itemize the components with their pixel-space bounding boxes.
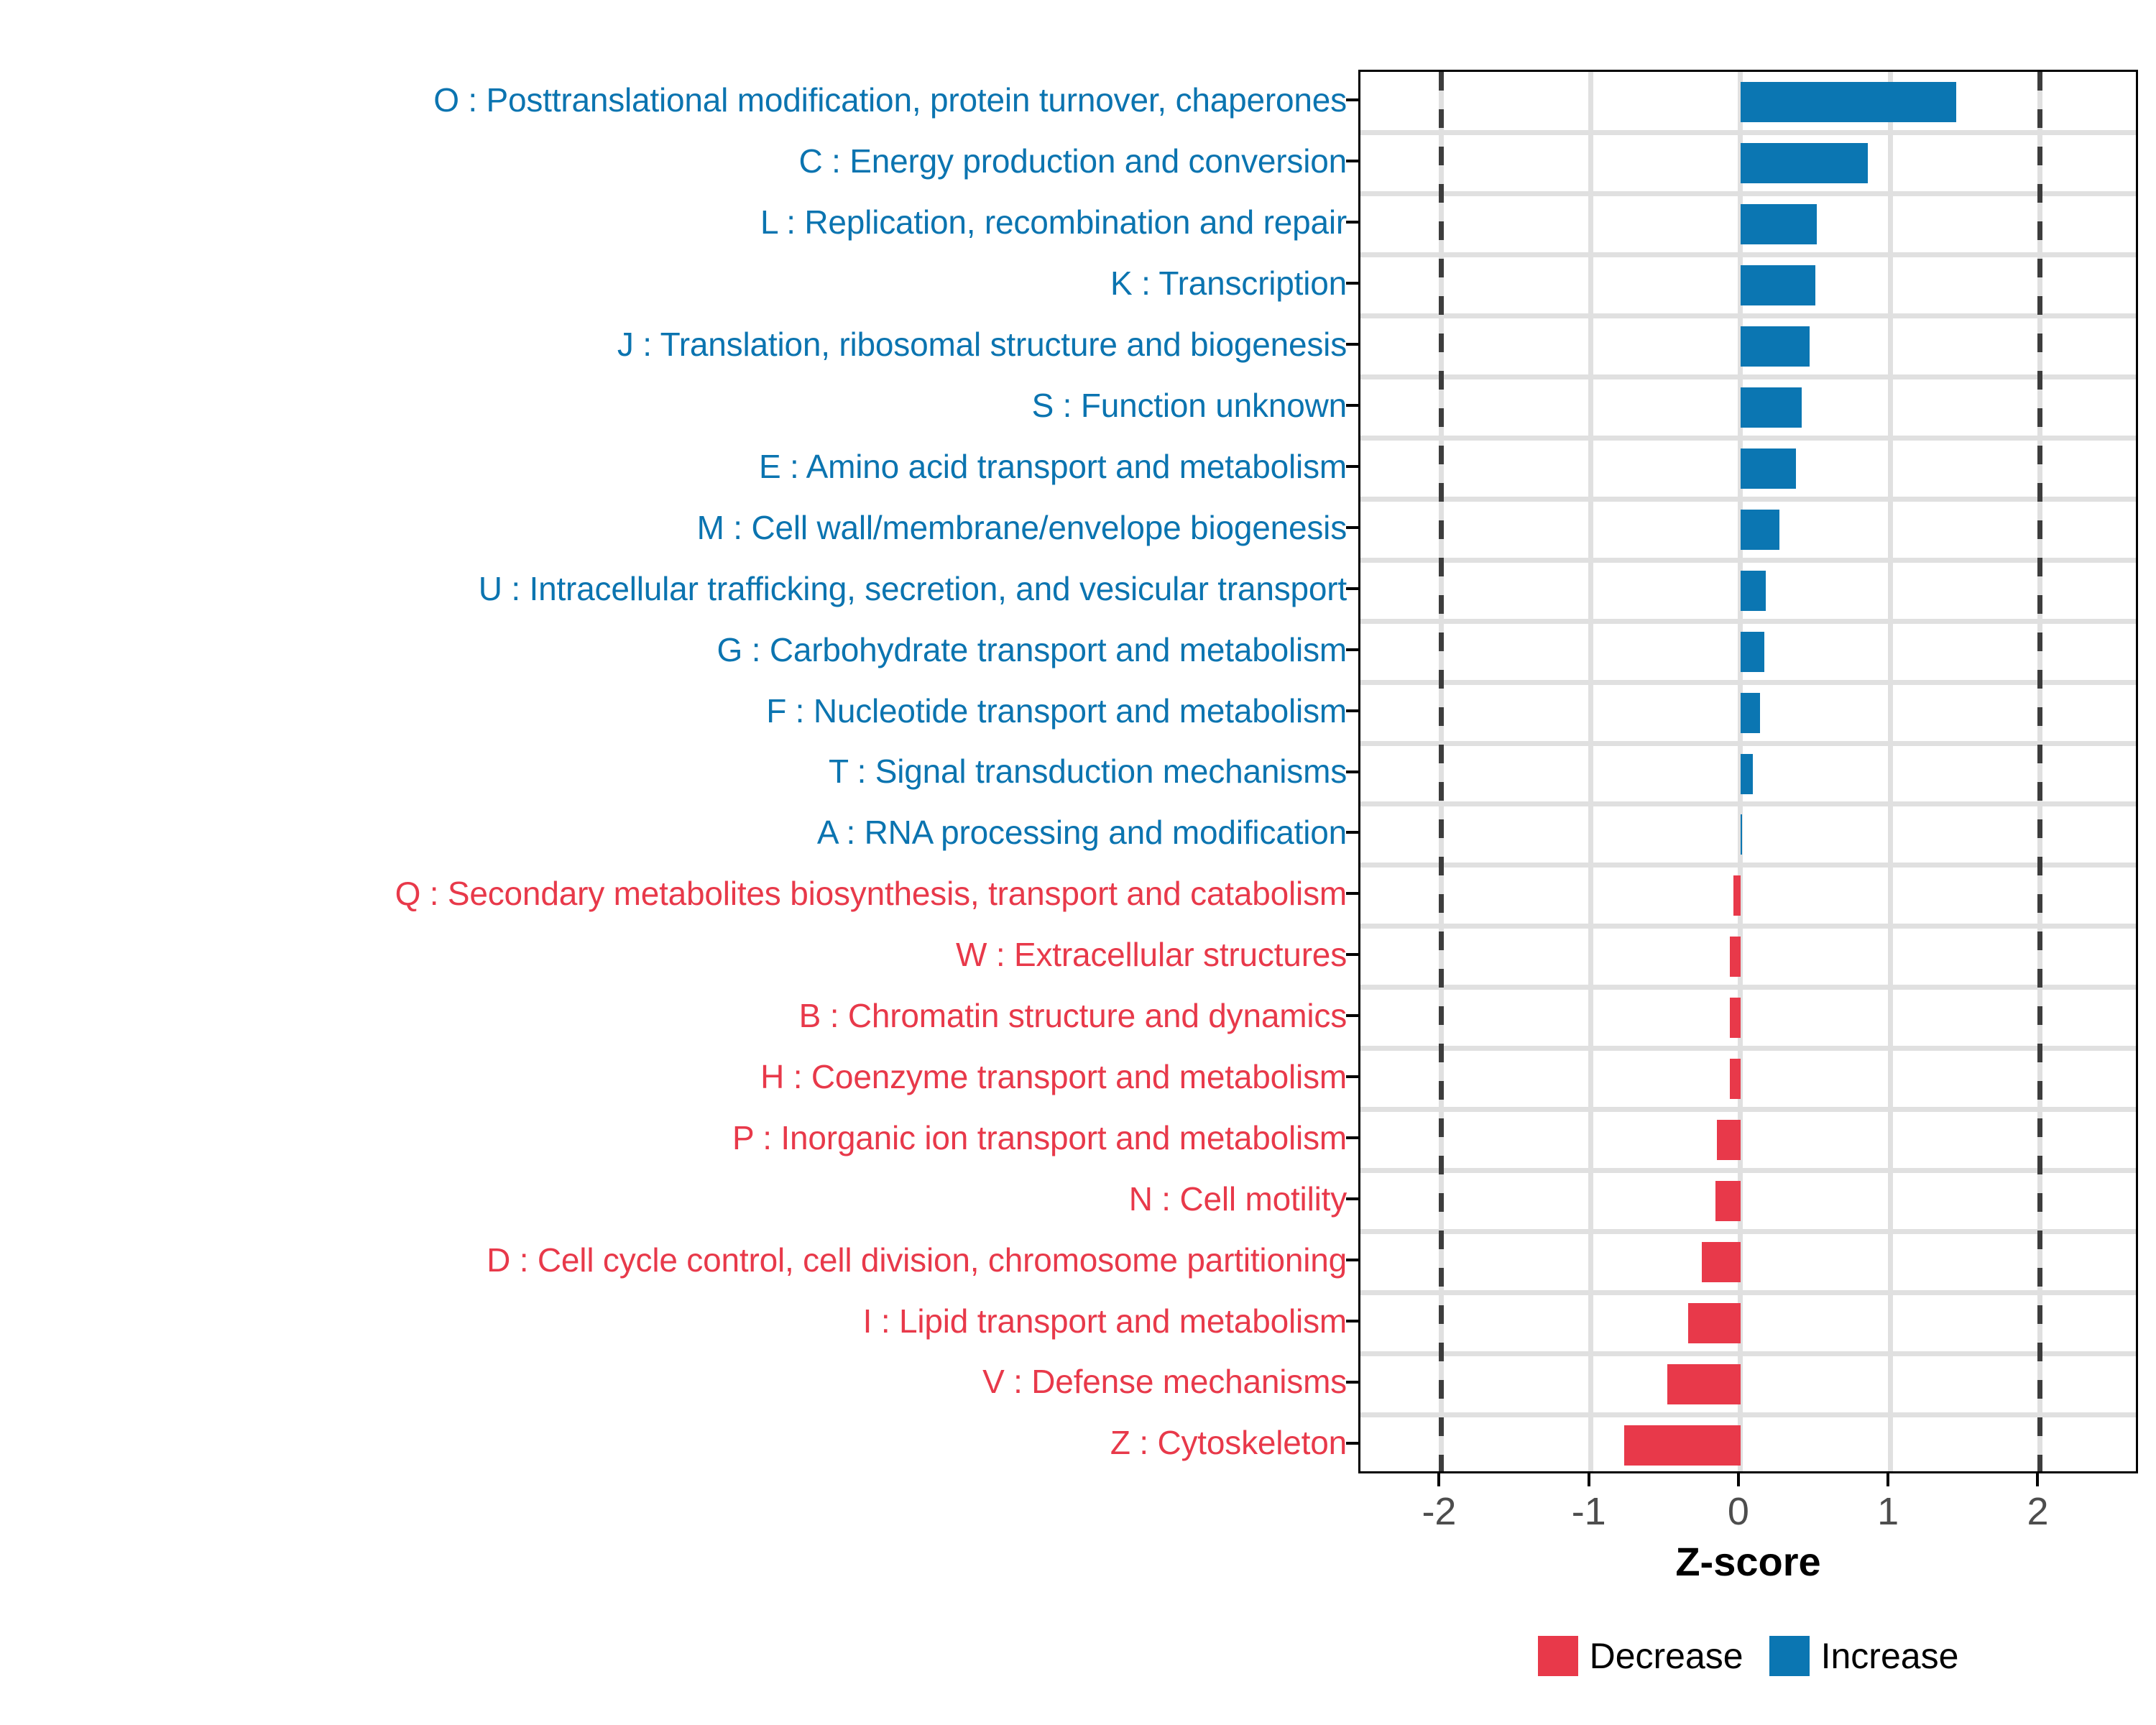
y-axis-tick — [1346, 160, 1358, 162]
y-axis-tick — [1346, 282, 1358, 285]
bar[interactable] — [1741, 693, 1760, 733]
bar[interactable] — [1741, 754, 1753, 794]
y-axis-tick — [1346, 831, 1358, 834]
y-axis-category-label: J : Translation, ribosomal structure and… — [617, 326, 1351, 363]
x-axis-tick-labels: -2-1012 — [1358, 1489, 2138, 1532]
x-axis-tick-label: 0 — [1728, 1489, 1749, 1534]
horizontal-gridline — [1360, 924, 2136, 929]
legend-swatch-icon — [1538, 1636, 1578, 1676]
y-axis-tick — [1346, 465, 1358, 468]
y-axis-tick — [1346, 98, 1358, 101]
bar[interactable] — [1741, 632, 1764, 672]
bar[interactable] — [1741, 510, 1779, 550]
y-axis-category-label: K : Transcription — [1110, 264, 1351, 302]
y-axis-category-label: F : Nucleotide transport and metabolism — [766, 692, 1351, 730]
bar[interactable] — [1741, 82, 1956, 122]
y-axis-category-label: I : Lipid transport and metabolism — [863, 1302, 1351, 1340]
y-axis-tick — [1346, 1320, 1358, 1322]
horizontal-gridline — [1360, 1046, 2136, 1051]
y-axis-tick — [1346, 404, 1358, 407]
x-axis-tick-label: -2 — [1422, 1489, 1456, 1534]
bar[interactable] — [1702, 1242, 1741, 1282]
bar[interactable] — [1741, 143, 1868, 183]
x-axis-tick-marks — [1358, 1473, 2138, 1486]
horizontal-gridline — [1360, 191, 2136, 196]
horizontal-gridline — [1360, 1168, 2136, 1173]
bar[interactable] — [1741, 265, 1815, 305]
y-axis-category-label: T : Signal transduction mechanisms — [829, 753, 1351, 790]
bar[interactable] — [1730, 937, 1741, 977]
horizontal-gridline — [1360, 374, 2136, 379]
horizontal-gridline — [1360, 1229, 2136, 1234]
bar[interactable] — [1733, 875, 1741, 916]
y-axis-category-label: W : Extracellular structures — [956, 936, 1351, 973]
bar[interactable] — [1741, 204, 1817, 244]
reference-line — [2037, 72, 2042, 1471]
y-axis-category-label: S : Function unknown — [1032, 387, 1351, 424]
y-axis-tick — [1346, 1381, 1358, 1384]
cog-zscore-bar-chart: O : Posttranslational modification, prot… — [0, 0, 2156, 1725]
horizontal-gridline — [1360, 801, 2136, 806]
x-axis-tick — [2036, 1473, 2039, 1486]
y-axis-category-label: P : Inorganic ion transport and metaboli… — [732, 1119, 1351, 1156]
y-axis-tick — [1346, 1075, 1358, 1078]
y-axis-category-label: M : Cell wall/membrane/envelope biogenes… — [697, 509, 1351, 546]
bar[interactable] — [1730, 998, 1741, 1038]
y-axis-category-label: B : Chromatin structure and dynamics — [799, 997, 1351, 1034]
bar[interactable] — [1688, 1303, 1741, 1343]
bar[interactable] — [1717, 1120, 1741, 1160]
y-axis-category-label: Z : Cytoskeleton — [1110, 1424, 1351, 1461]
y-axis-category-label: U : Intracellular trafficking, secretion… — [479, 570, 1351, 607]
y-axis-tick — [1346, 1136, 1358, 1139]
bar[interactable] — [1741, 448, 1796, 489]
y-axis-tick — [1346, 1014, 1358, 1017]
horizontal-gridline — [1360, 1351, 2136, 1356]
y-axis-tick — [1346, 709, 1358, 712]
bar[interactable] — [1667, 1364, 1741, 1404]
y-axis-tick-marks — [1346, 70, 1358, 1473]
y-axis-tick — [1346, 1197, 1358, 1200]
x-axis-tick-label: 2 — [2027, 1489, 2048, 1534]
horizontal-gridline — [1360, 1412, 2136, 1417]
y-axis-label-column: O : Posttranslational modification, prot… — [43, 70, 1351, 1473]
y-axis-category-label: G : Carbohydrate transport and metabolis… — [717, 631, 1351, 668]
y-axis-tick — [1346, 770, 1358, 773]
legend-item[interactable]: Increase — [1769, 1635, 1959, 1677]
horizontal-gridline — [1360, 130, 2136, 135]
legend-item[interactable]: Decrease — [1538, 1635, 1743, 1677]
y-axis-tick — [1346, 1259, 1358, 1261]
bar[interactable] — [1741, 326, 1810, 367]
bar[interactable] — [1624, 1425, 1741, 1466]
y-axis-category-label: E : Amino acid transport and metabolism — [759, 448, 1351, 485]
y-axis-tick — [1346, 587, 1358, 590]
bar[interactable] — [1715, 1181, 1741, 1221]
horizontal-gridline — [1360, 741, 2136, 746]
y-axis-tick — [1346, 526, 1358, 529]
plot-panel — [1358, 70, 2138, 1473]
y-axis-category-label: N : Cell motility — [1129, 1180, 1351, 1218]
horizontal-gridline — [1360, 252, 2136, 257]
horizontal-gridline — [1360, 313, 2136, 318]
bar[interactable] — [1741, 814, 1742, 855]
x-axis-tick — [1588, 1473, 1590, 1486]
legend-label: Increase — [1821, 1635, 1959, 1677]
horizontal-gridline — [1360, 497, 2136, 502]
legend-swatch-icon — [1769, 1636, 1810, 1676]
bar[interactable] — [1741, 387, 1802, 428]
legend-label: Decrease — [1590, 1635, 1743, 1677]
y-axis-tick — [1346, 648, 1358, 651]
horizontal-gridline — [1360, 985, 2136, 990]
horizontal-gridline — [1360, 436, 2136, 441]
horizontal-gridline — [1360, 680, 2136, 685]
y-axis-tick — [1346, 1442, 1358, 1445]
y-axis-category-label: A : RNA processing and modification — [817, 814, 1351, 851]
vertical-gridline — [1588, 72, 1593, 1471]
bar[interactable] — [1730, 1059, 1741, 1099]
x-axis-title: Z-score — [1358, 1538, 2138, 1585]
bar[interactable] — [1741, 571, 1766, 611]
horizontal-gridline — [1360, 862, 2136, 868]
horizontal-gridline — [1360, 558, 2136, 563]
horizontal-gridline — [1360, 1107, 2136, 1112]
horizontal-gridline — [1360, 1290, 2136, 1295]
y-axis-tick — [1346, 343, 1358, 346]
reference-line — [1439, 72, 1444, 1471]
x-axis-tick — [1886, 1473, 1889, 1486]
y-axis-tick — [1346, 221, 1358, 224]
y-axis-tick — [1346, 892, 1358, 895]
x-axis-tick — [1737, 1473, 1740, 1486]
y-axis-category-label: C : Energy production and conversion — [799, 142, 1351, 180]
y-axis-category-label: V : Defense mechanisms — [982, 1363, 1351, 1400]
x-axis-tick-label: -1 — [1572, 1489, 1606, 1534]
y-axis-category-label: L : Replication, recombination and repai… — [760, 203, 1351, 241]
y-axis-tick — [1346, 953, 1358, 956]
y-axis-category-label: D : Cell cycle control, cell division, c… — [487, 1241, 1351, 1279]
x-axis-tick — [1437, 1473, 1440, 1486]
y-axis-category-label: O : Posttranslational modification, prot… — [433, 81, 1351, 119]
x-axis-tick-label: 1 — [1877, 1489, 1899, 1534]
horizontal-gridline — [1360, 619, 2136, 624]
vertical-gridline — [1888, 72, 1893, 1471]
y-axis-category-label: Q : Secondary metabolites biosynthesis, … — [395, 875, 1351, 912]
legend: DecreaseIncrease — [1358, 1635, 2138, 1677]
y-axis-category-label: H : Coenzyme transport and metabolism — [760, 1058, 1351, 1095]
